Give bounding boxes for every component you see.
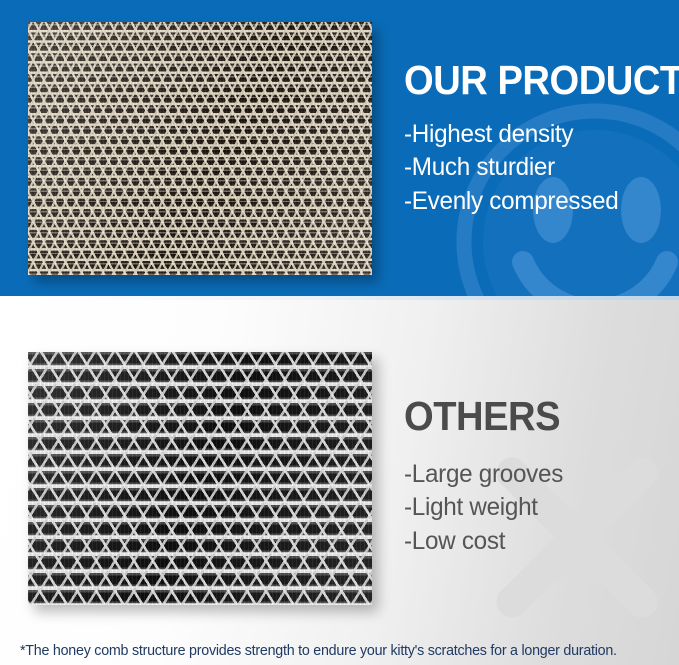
others-bullet-list: -Large grooves -Light weight -Low cost bbox=[404, 458, 679, 558]
list-item: -Low cost bbox=[404, 525, 671, 558]
our-product-photo bbox=[28, 22, 372, 275]
our-product-headline: OUR PRODUCT bbox=[404, 60, 660, 101]
others-copy: OTHERS -Large grooves -Light weight -Low… bbox=[404, 396, 679, 558]
groove-grain bbox=[28, 352, 372, 605]
footnote-text: *The honey comb structure provides stren… bbox=[20, 643, 617, 659]
our-product-copy: OUR PRODUCT -Highest density -Much sturd… bbox=[404, 60, 679, 218]
others-headline: OTHERS bbox=[404, 396, 660, 437]
list-item: -Highest density bbox=[404, 118, 671, 151]
comparison-infographic: OUR PRODUCT -Highest density -Much sturd… bbox=[0, 0, 679, 665]
our-product-panel: OUR PRODUCT -Highest density -Much sturd… bbox=[0, 0, 679, 296]
our-product-bullet-list: -Highest density -Much sturdier -Evenly … bbox=[404, 118, 679, 218]
list-item: -Evenly compressed bbox=[404, 185, 671, 218]
list-item: -Much sturdier bbox=[404, 151, 671, 184]
list-item: -Large grooves bbox=[404, 458, 671, 491]
list-item: -Light weight bbox=[404, 491, 671, 524]
others-photo bbox=[28, 352, 372, 605]
honeycomb-grain bbox=[28, 22, 372, 275]
